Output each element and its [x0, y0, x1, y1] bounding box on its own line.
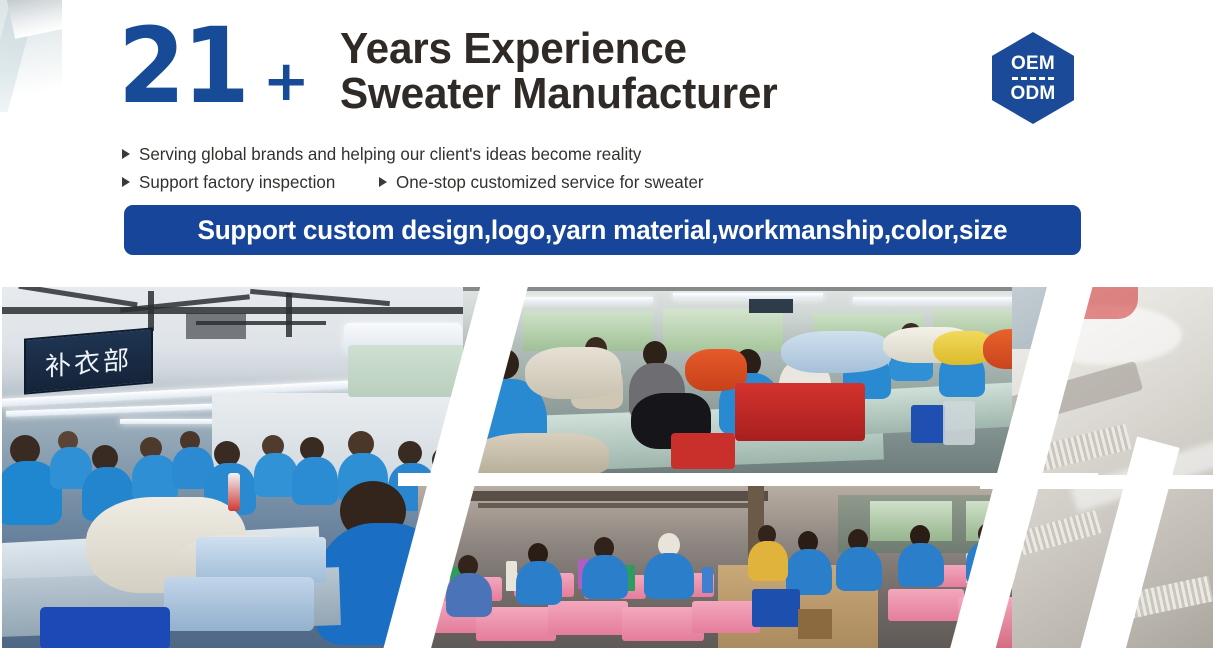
- custom-service-bar: Support custom design,logo,yarn material…: [124, 205, 1081, 255]
- years-number: 21: [118, 18, 247, 114]
- headline-line-1: Years Experience: [340, 26, 777, 71]
- bullet-row-2: Support factory inspection One-stop cust…: [122, 168, 713, 196]
- triangle-bullet-icon: [379, 177, 387, 187]
- collage-edge-left: [0, 285, 2, 648]
- photo-collage: 补衣部: [0, 285, 1213, 648]
- bullet-item: Serving global brands and helping our cl…: [122, 144, 657, 164]
- panel-inspection-folding: [463, 285, 1071, 483]
- collage-edge-top: [0, 285, 1213, 287]
- badge-odm-label: ODM: [1011, 83, 1056, 104]
- headline-line-2: Sweater Manufacturer: [340, 71, 777, 116]
- headline-row: 21 + Years Experience Sweater Manufactur…: [118, 18, 795, 116]
- oem-odm-badge: OEM ODM: [992, 32, 1074, 124]
- badge-oem-label: OEM: [1011, 53, 1055, 74]
- badge-dashed-divider: [1012, 77, 1054, 80]
- collage-divider-horizontal-right: [980, 475, 1213, 489]
- promo-banner: 21 + Years Experience Sweater Manufactur…: [0, 0, 1213, 648]
- bullet-item: One-stop customized service for sweater: [379, 172, 713, 192]
- plus-symbol: +: [263, 54, 310, 110]
- bullet-text: Serving global brands and helping our cl…: [139, 144, 641, 164]
- triangle-bullet-icon: [122, 149, 130, 159]
- hero-text-area: 21 + Years Experience Sweater Manufactur…: [0, 0, 1213, 285]
- bullet-row-1: Serving global brands and helping our cl…: [122, 140, 713, 168]
- bullet-text: One-stop customized service for sweater: [396, 172, 704, 192]
- bullet-text: Support factory inspection: [139, 172, 335, 192]
- workshop-sign: 补衣部: [24, 327, 153, 394]
- headline-block: Years Experience Sweater Manufacturer: [340, 26, 796, 116]
- triangle-bullet-icon: [122, 177, 130, 187]
- bullet-item: Support factory inspection: [122, 172, 341, 192]
- bullet-list: Serving global brands and helping our cl…: [122, 140, 713, 196]
- custom-service-text: Support custom design,logo,yarn material…: [198, 215, 1008, 246]
